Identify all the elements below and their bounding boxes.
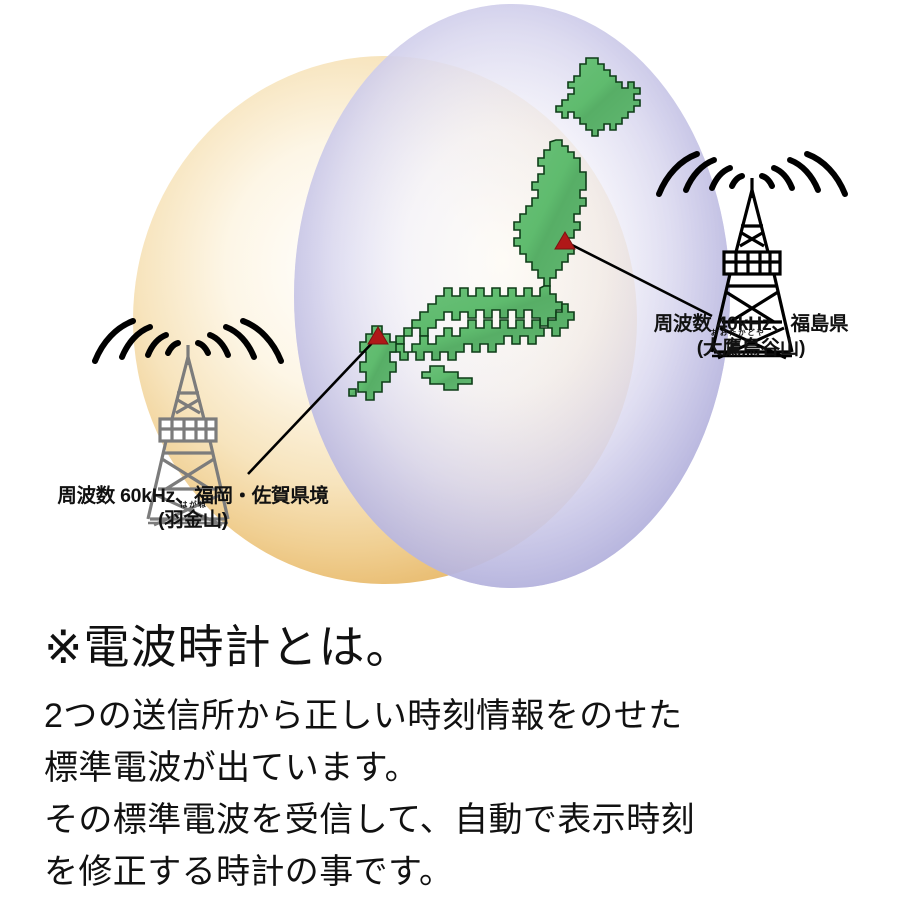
callout-left-ruby: はがね: [180, 501, 207, 509]
callout-left-line2: はがね (羽金山): [158, 510, 228, 532]
callout-right-line2: おおたかどや (大鷹鳥谷山): [697, 338, 805, 360]
radio-wave-diagram: 周波数 40kHz、福島県 おおたかどや (大鷹鳥谷山) 周波数 60kHz、福…: [0, 0, 900, 600]
description-line-1: 2つの送信所から正しい時刻情報をのせた: [44, 688, 683, 737]
callout-hagane: 周波数 60kHz、福岡・佐賀県境 はがね (羽金山): [38, 486, 348, 532]
description-line-3: その標準電波を受信して、自動で表示時刻: [44, 792, 695, 841]
description-line-2: 標準電波が出ています。: [44, 740, 419, 789]
callout-left-line2-text: (羽金山): [158, 509, 228, 531]
leader-line-left: [248, 341, 374, 474]
radio-wave-icon-left-left: [95, 321, 178, 361]
radio-wave-icon-left-right: [198, 321, 281, 361]
description-heading: ※電波時計とは。: [44, 611, 413, 677]
callout-right-line2-text: (大鷹鳥谷山): [697, 337, 805, 359]
callout-otakadoya: 周波数 40kHz、福島県 おおたかどや (大鷹鳥谷山): [626, 314, 876, 360]
radio-wave-icon-right-left: [659, 154, 742, 194]
callout-right-ruby: おおたかどや: [711, 329, 766, 337]
leader-line-right: [570, 244, 712, 316]
figure-page: 周波数 40kHz、福島県 おおたかどや (大鷹鳥谷山) 周波数 60kHz、福…: [0, 0, 900, 900]
transmitter-marker-hagane: [368, 327, 388, 344]
radio-wave-icon-right-right: [762, 154, 845, 194]
callout-left-line2-wrap: はがね (羽金山): [38, 510, 348, 532]
description-block: ※電波時計とは。 2つの送信所から正しい時刻情報をのせた 標準電波が出ています。…: [0, 600, 900, 900]
transmitter-marker-otakadoya: [555, 232, 575, 249]
callout-right-line2-wrap: おおたかどや (大鷹鳥谷山): [626, 338, 876, 360]
description-line-4: を修正する時計の事です。: [44, 844, 453, 893]
